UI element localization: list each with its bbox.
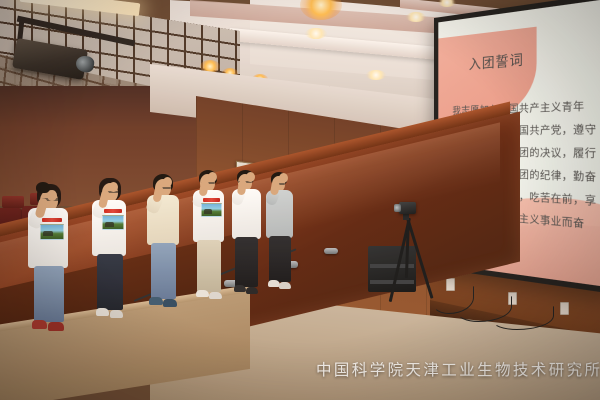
- legs: [34, 266, 64, 322]
- recessed-downlight-icon: [406, 12, 426, 22]
- video-camera: [399, 202, 416, 214]
- legs: [197, 240, 221, 292]
- raised-fist: [208, 172, 217, 182]
- legs: [97, 254, 123, 310]
- raised-fist: [279, 173, 288, 183]
- recessed-downlight-icon: [366, 70, 386, 80]
- tshirt-print-text: [104, 209, 122, 213]
- watermark-text: 中国科学院天津工业生物技术研究所: [316, 358, 600, 380]
- raised-fist: [109, 182, 118, 192]
- tshirt-print-image: [102, 215, 124, 230]
- shoe-right: [163, 299, 177, 307]
- shoe-left: [196, 290, 209, 297]
- tshirt-print-image: [40, 224, 64, 240]
- shoe-left: [32, 320, 47, 329]
- conference-microphone: [324, 248, 338, 254]
- legs: [269, 236, 291, 282]
- shoe-right: [110, 310, 123, 318]
- shoe-left: [96, 308, 109, 316]
- tshirt-print-text: [42, 218, 62, 222]
- shoe-right: [209, 292, 222, 299]
- raised-fist: [47, 190, 57, 201]
- auditorium-seat-back: [2, 196, 24, 208]
- raised-fist: [163, 177, 172, 187]
- tripod-head: [403, 213, 409, 220]
- camera-lens-icon: [394, 204, 401, 212]
- legs: [151, 243, 176, 299]
- shoe-left: [234, 285, 246, 292]
- raised-fist: [246, 172, 255, 182]
- photo-scene: 入团誓词 我志愿加入中国共产主义青年团，坚决拥护中国共产党，遵守团的章程，执行团…: [0, 0, 600, 400]
- shoe-right: [246, 287, 258, 294]
- slide-title: 入团誓词: [469, 48, 524, 73]
- tshirt-print-text: [203, 198, 220, 202]
- shoe-right: [48, 322, 64, 331]
- shoe-left: [149, 297, 163, 305]
- legs: [235, 237, 258, 287]
- shoe-right: [279, 282, 291, 289]
- recessed-downlight-icon: [305, 28, 327, 39]
- tshirt-print-image: [201, 203, 222, 217]
